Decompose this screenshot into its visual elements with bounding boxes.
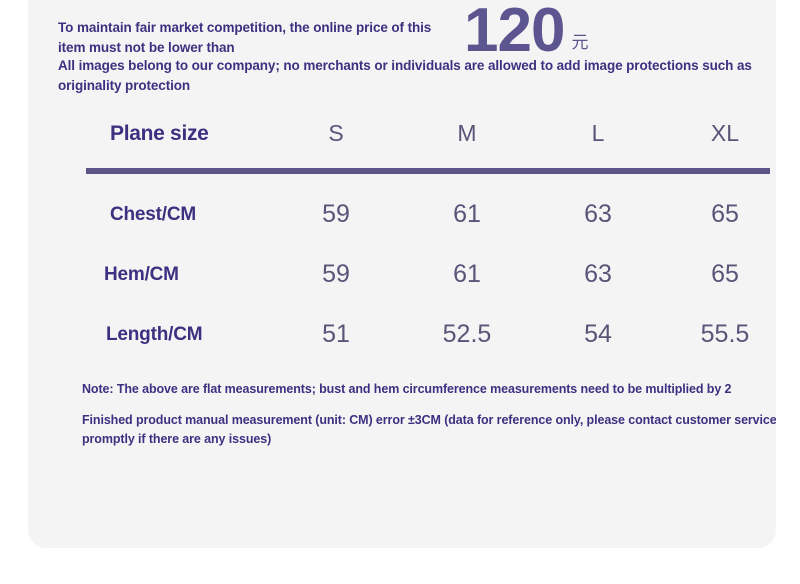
footnote-manual-measurement: Finished product manual measurement (uni… (82, 411, 776, 449)
cell-hem-xl: 65 (680, 260, 770, 289)
size-chart-page: To maintain fair market competition, the… (0, 0, 800, 584)
copyright-rule-text: All images belong to our company; no mer… (58, 56, 776, 95)
table-row: Length/CM 51 52.5 54 55.5 (86, 306, 770, 366)
cell-length-xl: 55.5 (680, 320, 770, 349)
column-header-xl: XL (680, 120, 770, 147)
table-divider (86, 168, 770, 174)
price-rule-text: To maintain fair market competition, the… (58, 18, 450, 57)
cell-hem-m: 61 (422, 260, 512, 289)
size-table: Plane size S M L XL Chest/CM 59 61 63 65… (86, 114, 770, 168)
cell-chest-s: 59 (291, 200, 381, 229)
cell-length-m: 52.5 (422, 320, 512, 349)
footnotes-block: Note: The above are flat measurements; b… (82, 380, 776, 448)
cell-length-s: 51 (291, 320, 381, 349)
cell-hem-l: 63 (553, 260, 643, 289)
price-currency-symbol: 元 (571, 28, 588, 53)
footnote-flat-measurement: Note: The above are flat measurements; b… (82, 380, 776, 399)
cell-length-l: 54 (553, 320, 643, 349)
table-corner-label: Plane size (110, 122, 209, 146)
cell-chest-l: 63 (553, 200, 643, 229)
table-header-row: Plane size S M L XL (86, 114, 770, 168)
table-row: Hem/CM 59 61 63 65 (86, 246, 770, 306)
size-chart-card: To maintain fair market competition, the… (28, 0, 776, 548)
column-header-m: M (422, 120, 512, 147)
cell-chest-m: 61 (422, 200, 512, 229)
row-label-chest: Chest/CM (110, 204, 196, 226)
table-body: Chest/CM 59 61 63 65 Hem/CM 59 61 63 65 … (86, 186, 770, 366)
price-amount: 120 (464, 0, 564, 62)
row-label-hem: Hem/CM (104, 264, 179, 286)
cell-chest-xl: 65 (680, 200, 770, 229)
column-header-l: L (553, 120, 643, 147)
table-row: Chest/CM 59 61 63 65 (86, 186, 770, 246)
minimum-price: 120 元 (464, 0, 588, 62)
cell-hem-s: 59 (291, 260, 381, 289)
notice-block: To maintain fair market competition, the… (58, 12, 776, 104)
column-header-s: S (291, 120, 381, 147)
row-label-length: Length/CM (106, 324, 202, 346)
